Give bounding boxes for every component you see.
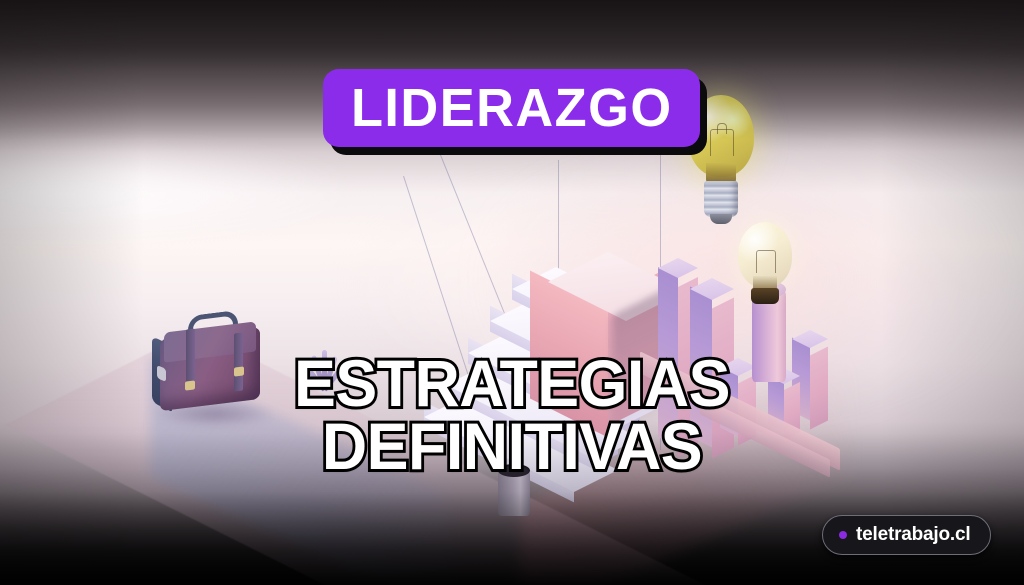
bulb-tip — [710, 214, 732, 224]
bulb-screw-base — [704, 181, 738, 217]
plant-sprig — [296, 330, 356, 390]
briefcase-buckle — [185, 380, 195, 390]
logo-dot-icon — [839, 531, 847, 539]
cylinder-top — [498, 464, 530, 477]
liderazgo-badge[interactable]: LIDERAZGO — [323, 69, 700, 147]
badge-label: LIDERAZGO — [351, 81, 673, 135]
briefcase — [148, 305, 278, 435]
briefcase-buckle — [234, 366, 244, 376]
bulb-filament — [756, 250, 776, 273]
logo-text: teletrabajo.cl — [856, 524, 970, 546]
badge-surface[interactable]: LIDERAZGO — [323, 69, 700, 147]
site-logo-pill[interactable]: teletrabajo.cl — [822, 515, 991, 555]
briefcase-strap — [234, 332, 243, 391]
bulb-screw-base — [751, 288, 779, 304]
briefcase-strap — [186, 328, 195, 387]
poster-canvas: LIDERAZGO ESTRATEGIAS DEFINITIVAS teletr… — [0, 0, 1024, 585]
bulb-filament — [717, 123, 727, 134]
light-bulb-small — [738, 222, 794, 330]
